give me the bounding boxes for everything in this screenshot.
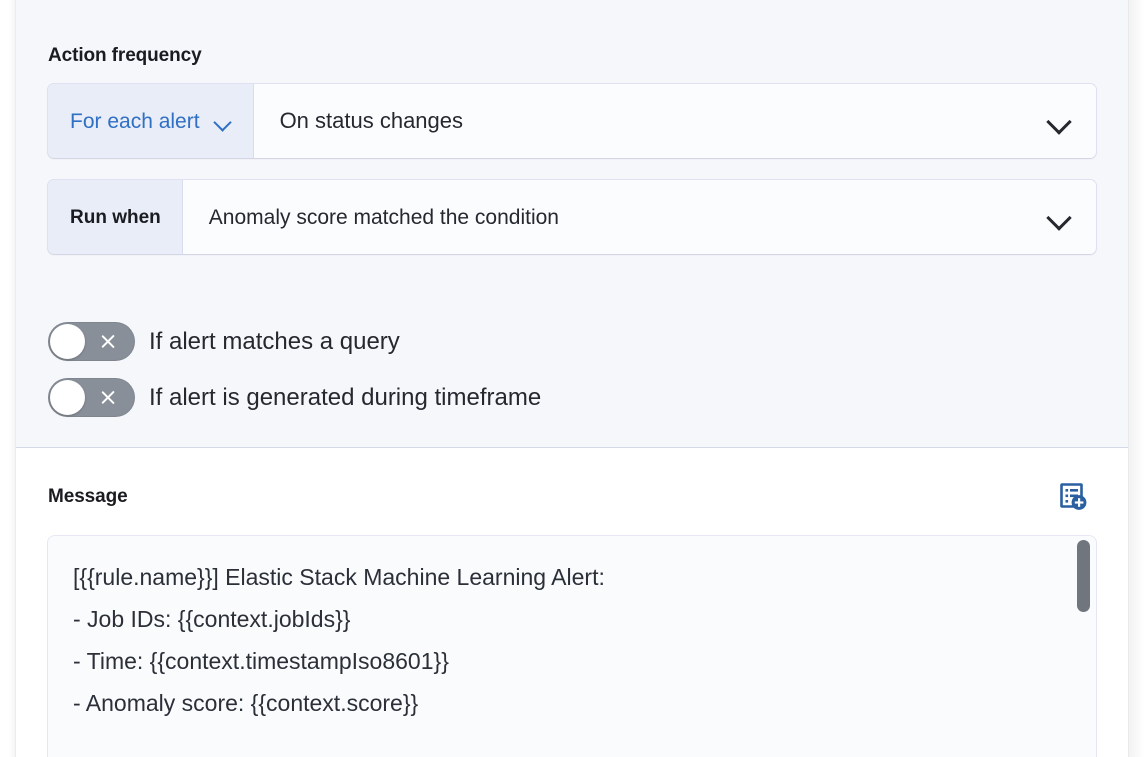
run-when-control: Run when Anomaly score matched the condi… <box>48 180 1096 254</box>
toggle-knob <box>50 380 85 415</box>
message-body-text: [{{rule.name}}] Elastic Stack Machine Le… <box>73 556 1054 724</box>
for-each-alert-button[interactable]: For each alert <box>48 84 254 158</box>
panel-right-shadow <box>1128 0 1145 757</box>
message-title: Message <box>48 485 128 509</box>
notify-when-value: On status changes <box>280 110 463 132</box>
message-scrollbar-thumb[interactable] <box>1077 540 1090 612</box>
cross-icon <box>100 389 117 406</box>
alert-query-filter-label: If alert matches a query <box>149 330 400 354</box>
run-when-prepend: Run when <box>48 180 183 254</box>
kibana-rule-action-panel: Action frequency For each alert On statu… <box>0 0 1145 757</box>
add-variable-icon[interactable] <box>1053 477 1093 517</box>
run-when-label: Run when <box>70 208 161 227</box>
action-frequency-title: Action frequency <box>48 44 202 68</box>
action-frequency-section: Action frequency For each alert On statu… <box>16 0 1128 448</box>
message-textarea[interactable]: [{{rule.name}}] Elastic Stack Machine Le… <box>48 536 1096 757</box>
alert-timeframe-filter-row: If alert is generated during timeframe <box>48 378 541 417</box>
toggle-knob <box>50 324 85 359</box>
alert-timeframe-filter-label: If alert is generated during timeframe <box>149 386 541 410</box>
action-summary-control: For each alert On status changes <box>48 84 1096 158</box>
alert-query-filter-row: If alert matches a query <box>48 322 400 361</box>
chevron-down-icon <box>214 116 232 126</box>
alert-query-filter-toggle[interactable] <box>48 322 135 361</box>
message-section: Message [{{rule.name}}] Elastic Stack Ma… <box>16 449 1128 757</box>
notify-when-select[interactable]: On status changes <box>254 84 1096 158</box>
action-group-select[interactable]: Anomaly score matched the condition <box>183 180 1096 254</box>
action-group-value: Anomaly score matched the condition <box>209 207 559 228</box>
alert-timeframe-filter-toggle[interactable] <box>48 378 135 417</box>
flyout-panel: Action frequency For each alert On statu… <box>16 0 1128 757</box>
cross-icon <box>100 333 117 350</box>
message-scrollbar[interactable] <box>1077 540 1090 757</box>
chevron-down-icon <box>1048 210 1074 224</box>
chevron-down-icon <box>1048 114 1074 128</box>
for-each-alert-label: For each alert <box>70 111 200 132</box>
